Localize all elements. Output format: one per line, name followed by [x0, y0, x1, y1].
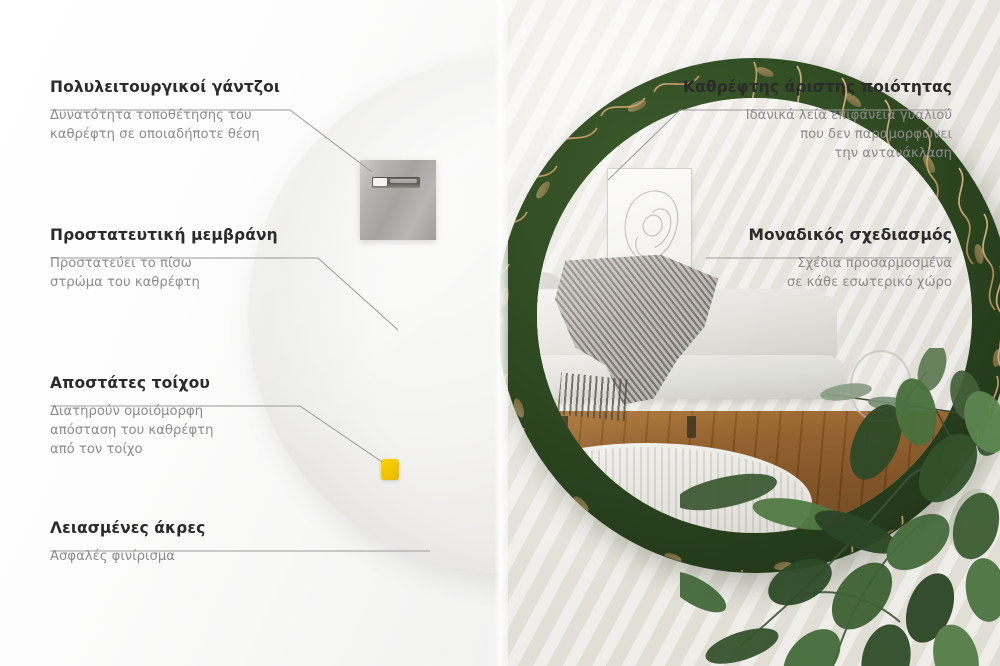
feature-title: Προστατευτική μεμβράνη [50, 226, 278, 245]
feature-description: Διατηρούν ομοιόμορφη απόσταση του καθρέφ… [50, 402, 213, 459]
reflected-throw-fringe [557, 373, 631, 422]
hook-slot-icon [372, 177, 420, 188]
feature-description: Ιδανικά λεία επιφάνεια γυαλιού που δεν π… [683, 106, 952, 163]
infographic-stage: Πολυλειτουργικοί γάντζοι Δυνατότητα τοπο… [0, 0, 1000, 666]
feature-title: Λειασμένες άκρες [50, 519, 205, 538]
mirror-back-shading [248, 58, 500, 573]
leaf-cluster-icon [680, 346, 1000, 666]
feature-title: Καθρέφτης άριστης ποιότητας [683, 78, 952, 97]
feature-block-spacers: Αποστάτες τοίχου Διατηρούν ομοιόμορφη απ… [50, 374, 213, 459]
panel-seam [494, 0, 508, 666]
foliage-cluster [680, 346, 1000, 666]
feature-description: Δυνατότητα τοποθέτησης του καθρέφτη σε ο… [50, 106, 280, 144]
feature-block-unique-design: Μοναδικός σχεδιασμός Σχέδια προσαρμοσμέν… [748, 226, 952, 292]
wall-spacer-marker [381, 459, 399, 480]
feature-block-quality-mirror: Καθρέφτης άριστης ποιότητας Ιδανικά λεία… [683, 78, 952, 163]
reflected-sofa-leg [559, 416, 568, 438]
feature-title: Πολυλειτουργικοί γάντζοι [50, 78, 280, 97]
feature-block-membrane: Προστατευτική μεμβράνη Προστατεύει το πί… [50, 226, 278, 292]
feature-title: Αποστάτες τοίχου [50, 374, 213, 393]
feature-title: Μοναδικός σχεδιασμός [748, 226, 952, 245]
feature-description: Σχέδια προσαρμοσμένα σε κάθε εσωτερικό χ… [748, 254, 952, 292]
feature-description: Ασφαλές φινίρισμα [50, 547, 205, 566]
feature-block-edges: Λειασμένες άκρες Ασφαλές φινίρισμα [50, 519, 205, 566]
hook-plate [360, 160, 436, 240]
feature-description: Προστατεύει το πίσω στρώμα του καθρέφτη [50, 254, 278, 292]
feature-block-hooks: Πολυλειτουργικοί γάντζοι Δυνατότητα τοπο… [50, 78, 280, 144]
